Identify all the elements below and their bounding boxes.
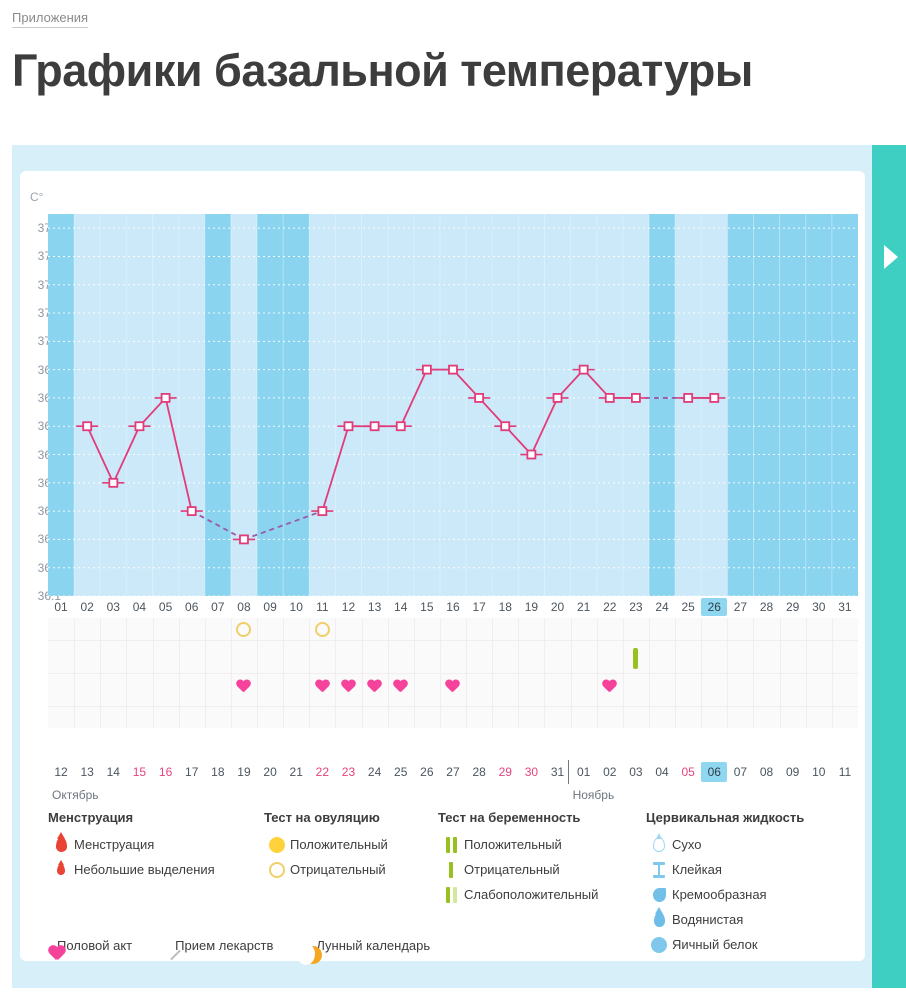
cycle-day-10[interactable]: 10 xyxy=(283,598,309,616)
cycle-day-02[interactable]: 02 xyxy=(74,598,100,616)
legend-item: Лунный календарь xyxy=(307,938,430,953)
intercourse-heart-icon[interactable] xyxy=(362,680,388,699)
sticky-hourglass-icon xyxy=(646,862,672,878)
legend-item-label: Прием лекарств xyxy=(175,938,273,953)
legend-item-label: Яичный белок xyxy=(672,937,758,952)
legend-item-label: Кремообразная xyxy=(672,887,767,902)
intercourse-heart-icon[interactable] xyxy=(388,680,414,699)
legend-column-4: Цервикальная жидкостьСухоКлейкаяКремообр… xyxy=(646,810,804,957)
legend-column-2: Тест на овуляциюПоложительныйОтрицательн… xyxy=(264,810,388,882)
calendar-day-09[interactable]: 09 xyxy=(780,762,806,782)
cycle-day-14[interactable]: 14 xyxy=(388,598,414,616)
egg-white-circle-icon xyxy=(646,937,672,953)
ovulation-test-negative-icon[interactable] xyxy=(231,622,257,642)
legend-item: Отрицательный xyxy=(438,857,598,882)
breadcrumb[interactable]: Приложения xyxy=(12,10,88,28)
legend-item: Сухо xyxy=(646,832,804,857)
cycle-day-15[interactable]: 15 xyxy=(414,598,440,616)
legend-item: Положительный xyxy=(264,832,388,857)
droplet-outline-icon xyxy=(646,837,672,852)
cycle-day-23[interactable]: 23 xyxy=(623,598,649,616)
watery-droplet-icon xyxy=(646,912,672,927)
legend-item-label: Клейкая xyxy=(672,862,722,877)
cycle-day-06[interactable]: 06 xyxy=(179,598,205,616)
legend-item: Половой акт xyxy=(48,938,132,953)
cycle-day-05[interactable]: 05 xyxy=(153,598,179,616)
calendar-day-14[interactable]: 14 xyxy=(100,762,126,782)
intercourse-heart-icon[interactable] xyxy=(231,680,257,699)
cycle-day-29[interactable]: 29 xyxy=(780,598,806,616)
calendar-day-18[interactable]: 18 xyxy=(205,762,231,782)
cycle-day-03[interactable]: 03 xyxy=(100,598,126,616)
cycle-day-07[interactable]: 07 xyxy=(205,598,231,616)
bbt-chart[interactable] xyxy=(48,186,858,596)
legend-column-title: Тест на беременность xyxy=(438,810,598,825)
legend-column-3: Тест на беременностьПоложительныйОтрицат… xyxy=(438,810,598,907)
green-bar-plus-faint-icon xyxy=(438,887,464,903)
legend-column-title: Тест на овуляцию xyxy=(264,810,388,825)
cycle-day-21[interactable]: 21 xyxy=(571,598,597,616)
legend-item: Водянистая xyxy=(646,907,804,932)
cycle-day-17[interactable]: 17 xyxy=(466,598,492,616)
next-chart-panel[interactable] xyxy=(872,145,906,988)
cycle-day-28[interactable]: 28 xyxy=(753,598,779,616)
one-green-bar-icon xyxy=(438,862,464,878)
cycle-day-13[interactable]: 13 xyxy=(362,598,388,616)
legend-item-label: Положительный xyxy=(464,837,562,852)
circle-filled-yellow-icon xyxy=(264,837,290,853)
legend-item-label: Слабоположительный xyxy=(464,887,598,902)
calendar-day-01[interactable]: 01 xyxy=(571,762,597,782)
cycle-day-31[interactable]: 31 xyxy=(832,598,858,616)
intercourse-heart-icon[interactable] xyxy=(440,680,466,699)
legend-item-label: Лунный календарь xyxy=(316,938,430,953)
creamy-droplet-icon xyxy=(646,888,672,902)
calendar-day-19[interactable]: 19 xyxy=(231,762,257,782)
ovulation-test-negative-icon[interactable] xyxy=(309,622,335,642)
cycle-day-axis[interactable]: 0102030405060708091011121314151617181920… xyxy=(48,598,858,618)
intercourse-heart-icon[interactable] xyxy=(335,680,361,699)
calendar-day-21[interactable]: 21 xyxy=(283,762,309,782)
legend-item-label: Положительный xyxy=(290,837,388,852)
chart-legend-bottom: Половой актПрием лекарствЛунный календар… xyxy=(48,938,430,953)
circle-outline-yellow-icon xyxy=(264,862,290,878)
cycle-day-27[interactable]: 27 xyxy=(727,598,753,616)
legend-item: Отрицательный xyxy=(264,857,388,882)
pregnancy-test-bar-icon[interactable] xyxy=(623,648,649,674)
legend-item-label: Отрицательный xyxy=(464,862,560,877)
grid-line xyxy=(48,640,858,641)
calendar-day-28[interactable]: 28 xyxy=(466,762,492,782)
month-divider xyxy=(568,760,569,784)
calendar-day-08[interactable]: 08 xyxy=(753,762,779,782)
calendar-day-17[interactable]: 17 xyxy=(179,762,205,782)
calendar-day-25[interactable]: 25 xyxy=(388,762,414,782)
cycle-day-19[interactable]: 19 xyxy=(518,598,544,616)
y-axis-unit-label: C° xyxy=(30,190,43,204)
cycle-day-25[interactable]: 25 xyxy=(675,598,701,616)
cycle-day-24[interactable]: 24 xyxy=(649,598,675,616)
calendar-day-27[interactable]: 27 xyxy=(440,762,466,782)
legend-item-label: Небольшие выделения xyxy=(74,862,215,877)
legend-item-label: Половой акт xyxy=(57,938,132,953)
legend-item: Клейкая xyxy=(646,857,804,882)
legend-column-title: Цервикальная жидкость xyxy=(646,810,804,825)
calendar-day-20[interactable]: 20 xyxy=(257,762,283,782)
cycle-day-18[interactable]: 18 xyxy=(492,598,518,616)
legend-item: Кремообразная xyxy=(646,882,804,907)
cycle-day-16[interactable]: 16 xyxy=(440,598,466,616)
cycle-day-20[interactable]: 20 xyxy=(544,598,570,616)
cycle-day-26[interactable]: 26 xyxy=(701,598,727,616)
legend-item: Яичный белок xyxy=(646,932,804,957)
intercourse-heart-icon[interactable] xyxy=(309,680,335,699)
calendar-day-07[interactable]: 07 xyxy=(727,762,753,782)
chevron-right-icon[interactable] xyxy=(884,245,898,269)
cycle-day-09[interactable]: 09 xyxy=(257,598,283,616)
cycle-day-08[interactable]: 08 xyxy=(231,598,257,616)
legend-column-1: МенструацияМенструацияНебольшие выделени… xyxy=(48,810,215,882)
calendar-day-04[interactable]: 04 xyxy=(649,762,675,782)
month-label-right: Ноябрь xyxy=(573,788,615,802)
page-title: Графики базальной температуры xyxy=(12,44,753,98)
blood-drop-small-icon xyxy=(48,864,74,875)
legend-item: Менструация xyxy=(48,832,215,857)
cycle-day-22[interactable]: 22 xyxy=(597,598,623,616)
cycle-day-04[interactable]: 04 xyxy=(126,598,152,616)
legend-item-label: Менструация xyxy=(74,837,154,852)
legend-item-label: Сухо xyxy=(672,837,701,852)
cycle-day-12[interactable]: 12 xyxy=(335,598,361,616)
cycle-day-01[interactable]: 01 xyxy=(48,598,74,616)
symbol-grid[interactable] xyxy=(48,618,858,728)
legend-item: Прием лекарств xyxy=(166,938,273,953)
calendar-day-02[interactable]: 02 xyxy=(597,762,623,782)
legend-item-label: Отрицательный xyxy=(290,862,386,877)
calendar-day-06[interactable]: 06 xyxy=(701,762,727,782)
calendar-date-axis[interactable]: 1213141516171819202122232425262728293031… xyxy=(48,762,858,784)
cycle-day-11[interactable]: 11 xyxy=(309,598,335,616)
calendar-day-11[interactable]: 11 xyxy=(832,762,858,782)
two-green-bars-icon xyxy=(438,837,464,853)
grid-line xyxy=(48,706,858,707)
calendar-day-13[interactable]: 13 xyxy=(74,762,100,782)
calendar-day-29[interactable]: 29 xyxy=(492,762,518,782)
calendar-day-10[interactable]: 10 xyxy=(806,762,832,782)
legend-item: Слабоположительный xyxy=(438,882,598,907)
calendar-day-24[interactable]: 24 xyxy=(362,762,388,782)
calendar-day-30[interactable]: 30 xyxy=(518,762,544,782)
legend-column-title: Менструация xyxy=(48,810,215,825)
calendar-day-15[interactable]: 15 xyxy=(126,762,152,782)
legend-item-label: Водянистая xyxy=(672,912,743,927)
calendar-day-05[interactable]: 05 xyxy=(675,762,701,782)
calendar-day-23[interactable]: 23 xyxy=(335,762,361,782)
grid-line xyxy=(48,673,858,674)
calendar-day-22[interactable]: 22 xyxy=(309,762,335,782)
legend-item: Положительный xyxy=(438,832,598,857)
legend-item: Небольшие выделения xyxy=(48,857,215,882)
calendar-day-03[interactable]: 03 xyxy=(623,762,649,782)
blood-drop-large-icon xyxy=(48,837,74,852)
calendar-day-12[interactable]: 12 xyxy=(48,762,74,782)
intercourse-heart-icon[interactable] xyxy=(597,680,623,699)
cycle-day-30[interactable]: 30 xyxy=(806,598,832,616)
calendar-day-16[interactable]: 16 xyxy=(153,762,179,782)
calendar-day-26[interactable]: 26 xyxy=(414,762,440,782)
bbt-chart-plot xyxy=(48,186,858,596)
month-label-left: Октябрь xyxy=(52,788,99,802)
